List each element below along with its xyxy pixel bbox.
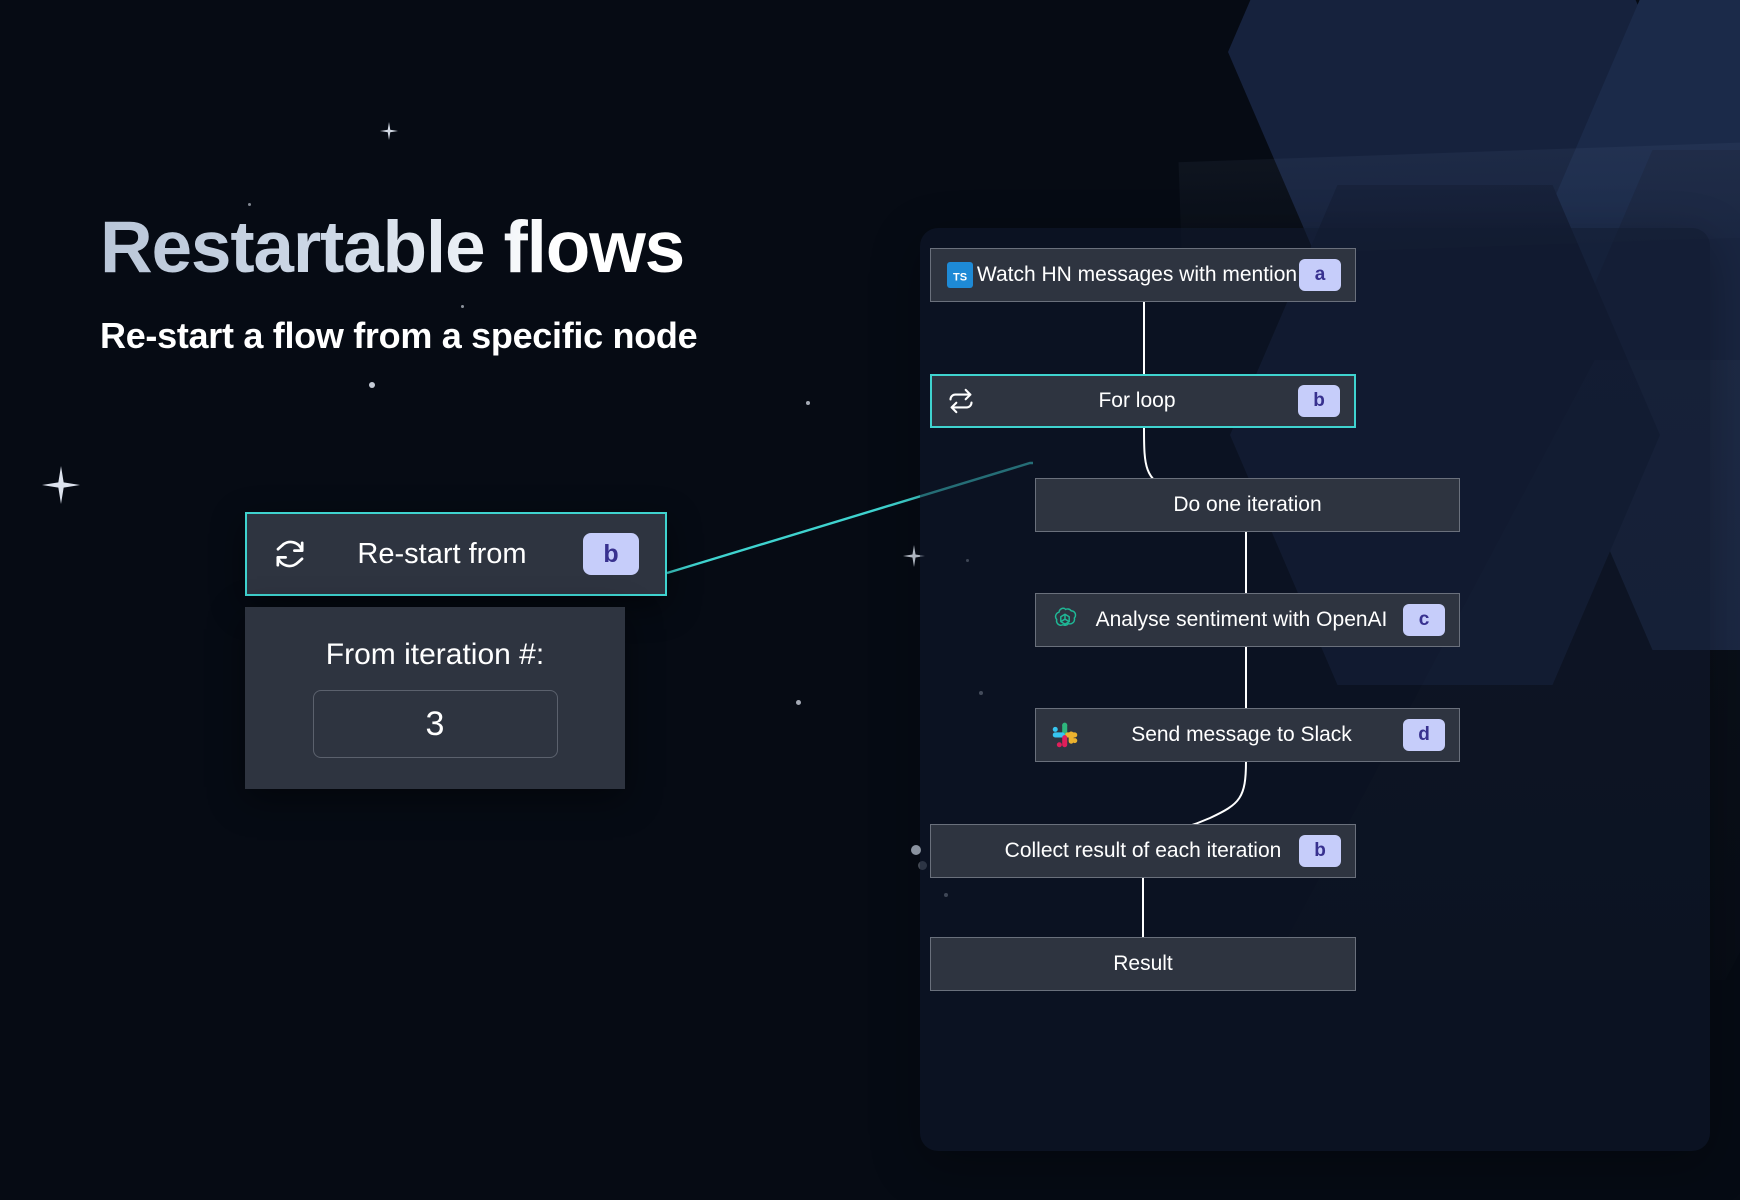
flow-node-collect-result[interactable]: Collect result of each iteration b <box>930 824 1356 878</box>
svg-text:TS: TS <box>953 272 967 284</box>
flow-node-for-loop[interactable]: For loop b <box>930 374 1356 428</box>
flow-node-badge[interactable]: c <box>1403 604 1445 636</box>
flow-node-result[interactable]: Result <box>930 937 1356 991</box>
refresh-circular-icon <box>273 537 307 571</box>
star-dot <box>461 305 464 308</box>
iteration-number-input[interactable]: 3 <box>313 690 558 758</box>
flow-node-label: Result <box>945 952 1341 976</box>
loop-repeat-icon <box>946 386 976 416</box>
flow-node-badge[interactable]: a <box>1299 259 1341 291</box>
collect-node-dot <box>911 845 921 855</box>
restart-target-badge[interactable]: b <box>583 533 639 575</box>
star-dot <box>369 382 375 388</box>
flow-node-send-slack[interactable]: Send message to Slack d <box>1035 708 1460 762</box>
page-title: Restartable flows <box>100 206 684 289</box>
sparkle-icon <box>380 122 398 140</box>
from-iteration-label: From iteration #: <box>326 638 544 672</box>
slack-icon <box>1050 720 1080 750</box>
flow-node-label: Collect result of each iteration <box>987 839 1299 863</box>
flow-node-label: Do one iteration <box>1050 493 1445 517</box>
star-dot <box>796 700 801 705</box>
flow-node-badge[interactable]: d <box>1403 719 1445 751</box>
flow-node-badge[interactable]: b <box>1299 835 1341 867</box>
flow-node-openai-sentiment[interactable]: Analyse sentiment with OpenAI c <box>1035 593 1460 647</box>
typescript-icon: TS <box>945 260 975 290</box>
flow-node-watch-hn[interactable]: TS Watch HN messages with mention a <box>930 248 1356 302</box>
flow-node-badge[interactable]: b <box>1298 385 1340 417</box>
from-iteration-panel: From iteration #: 3 <box>245 607 625 789</box>
flow-node-label: Watch HN messages with mention <box>975 263 1299 287</box>
promo-graphic: Restartable flows Re-start a flow from a… <box>0 0 1740 1200</box>
page-subtitle: Re-start a flow from a specific node <box>100 315 697 357</box>
openai-icon <box>1050 605 1080 635</box>
flow-node-label: Send message to Slack <box>1080 723 1403 747</box>
flow-node-label: For loop <box>976 389 1298 413</box>
sparkle-icon <box>42 466 80 504</box>
flow-canvas-panel: TS Watch HN messages with mention a For … <box>920 228 1710 1151</box>
star-dot <box>806 401 810 405</box>
flow-node-do-one-iteration[interactable]: Do one iteration <box>1035 478 1460 532</box>
edge-slack-to-collect <box>920 228 1710 1151</box>
flow-node-label: Analyse sentiment with OpenAI <box>1080 608 1403 632</box>
restart-from-card[interactable]: Re-start from b <box>245 512 667 596</box>
restart-from-label: Re-start from <box>307 538 583 571</box>
